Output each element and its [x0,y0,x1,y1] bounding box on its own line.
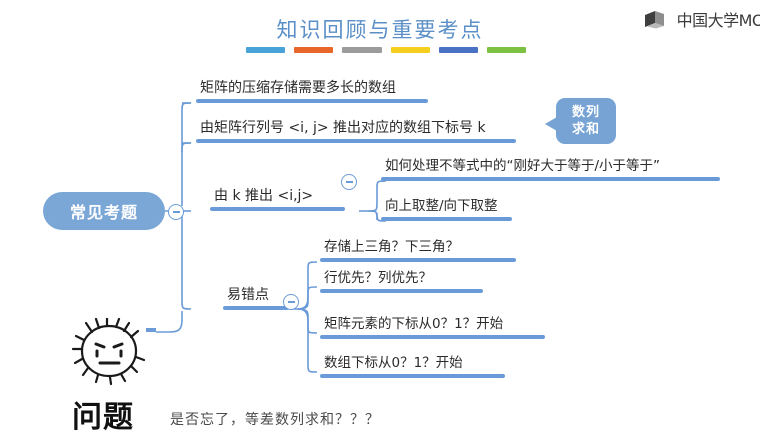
node-label: 由矩阵行列号 <i, j> 推出对应的数组下标号 k [196,119,516,139]
node-label: 易错点 [223,286,289,306]
node-row-col-priority[interactable]: 行优先？列优先？ [320,269,483,293]
node-underline [196,139,516,143]
mindmap-root-node[interactable]: 常见考题 [43,192,165,230]
node-underline [223,306,289,310]
node-underline [381,217,512,221]
node-ceil-floor[interactable]: 向上取整/向下取整 [381,197,512,221]
node-label: 存储上三角？下三角？ [320,238,516,258]
node-label: 由 k 推出 <i,j> [210,187,345,207]
node-underline [210,207,345,211]
node-common-mistakes[interactable]: 易错点 [223,286,289,310]
node-label: 如何处理不等式中的“刚好大于等于/小于等于” [381,157,720,177]
node-underline [320,258,516,262]
footer-note: 是否忘了，等差数列求和？？？ [170,409,380,429]
node-upper-lower-triangle[interactable]: 存储上三角？下三角？ [320,238,516,262]
node-matrix-index-base[interactable]: 矩阵元素的下标从0？1？开始 [320,315,545,339]
callout-bubble: 数列 求和 [556,98,616,144]
node-label: 矩阵元素的下标从0？1？开始 [320,315,545,335]
doodle-face-icon [66,318,152,386]
node-compressed-storage-length[interactable]: 矩阵的压缩存储需要多长的数组 [196,79,428,103]
node-derive-i-j-collapse-toggle[interactable] [341,174,357,190]
question-word: 问题 [72,392,134,436]
node-label: 矩阵的压缩存储需要多长的数组 [196,79,428,99]
node-index-from-row-col[interactable]: 由矩阵行列号 <i, j> 推出对应的数组下标号 k [196,119,516,143]
mindmap-root-label: 常见考题 [70,199,138,223]
callout-line-2: 求和 [572,121,600,138]
node-inequality-handling[interactable]: 如何处理不等式中的“刚好大于等于/小于等于” [381,157,720,181]
root-collapse-toggle[interactable] [168,204,184,220]
node-array-index-base[interactable]: 数组下标从0？1？开始 [320,354,505,378]
node-underline [320,335,545,339]
callout-line-1: 数列 [572,104,600,121]
node-label: 数组下标从0？1？开始 [320,354,505,374]
node-derive-i-j-from-k[interactable]: 由 k 推出 <i,j> [210,187,345,211]
node-underline [320,289,483,293]
node-common-mistakes-collapse-toggle[interactable] [283,294,299,310]
node-underline [196,99,428,103]
node-underline [320,374,505,378]
node-underline [381,177,720,181]
slide-canvas: 知识回顾与重要考点 中国大学MO [0,0,760,441]
node-label: 行优先？列优先？ [320,269,483,289]
node-label: 向上取整/向下取整 [381,197,512,217]
